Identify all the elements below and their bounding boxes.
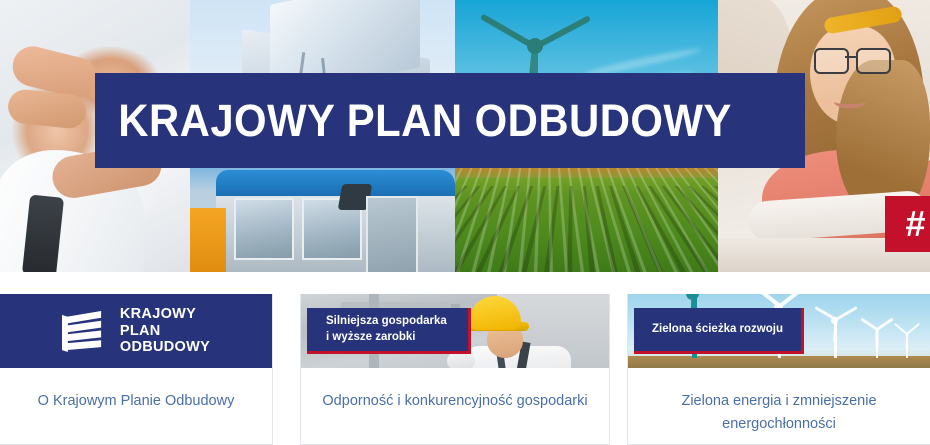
turbine-4-blade-3	[876, 330, 879, 348]
card-economy[interactable]: Silniejsza gospodarka i wyższe zarobki O…	[300, 294, 610, 445]
hashtag-icon: #	[905, 206, 925, 242]
crop-field-photo	[455, 168, 718, 272]
hashtag-badge[interactable]: #	[885, 196, 930, 252]
tram-yellow-panel	[190, 208, 226, 272]
wind-farm-photo: Zielona ścieżka rozwoju	[628, 294, 930, 368]
badge-line-1: Silniejsza gospodarka	[326, 314, 447, 330]
turbine-hub	[527, 38, 543, 54]
card-row: KRAJOWY PLAN ODBUDOWY O Krajowym Planie …	[0, 294, 930, 445]
turbine-3-blade-1	[835, 306, 857, 321]
kpo-building-steps-icon	[62, 309, 107, 354]
hero-title-banner: KRAJOWY PLAN ODBUDOWY	[95, 73, 805, 168]
turbine-4-blade-1	[876, 318, 893, 331]
kpo-logo-text: KRAJOWY PLAN ODBUDOWY	[120, 306, 210, 356]
turbine-5-blade-1	[906, 323, 920, 335]
card-badge-economy-text: Silniejsza gospodarka i wyższe zarobki	[326, 314, 447, 345]
card-caption-wrap: Zielona energia i zmniejszenie energochł…	[628, 368, 930, 437]
worker-hardhat-photo: Silniejsza gospodarka i wyższe zarobki	[301, 294, 609, 368]
tram-window-1	[234, 198, 294, 260]
card-caption-wrap: Odporność i konkurencyjność gospodarki	[301, 368, 609, 413]
card-badge-green: Zielona ścieżka rozwoju	[634, 308, 804, 354]
card-badge-economy: Silniejsza gospodarka i wyższe zarobki	[307, 308, 471, 354]
logo-line-3: ODBUDOWY	[120, 339, 210, 356]
card-caption-about: O Krajowym Planie Odbudowy	[38, 390, 235, 413]
card-caption-green: Zielona energia i zmniejszenie energochł…	[646, 390, 912, 437]
lens-right	[856, 48, 891, 74]
card-caption-wrap: O Krajowym Planie Odbudowy	[0, 368, 272, 413]
lens-left	[814, 48, 849, 74]
card-caption-economy: Odporność i konkurencyjność gospodarki	[322, 390, 587, 413]
girl-eyeglasses-icon	[814, 48, 892, 70]
tram-roof	[216, 170, 455, 196]
page-root: KRAJOWY PLAN ODBUDOWY # KRAJOWY	[0, 0, 930, 445]
tram-door	[366, 196, 418, 272]
logo-line-2: PLAN	[120, 323, 210, 340]
badge-line-2: i wyższe zarobki	[326, 330, 447, 346]
card-about-kpo[interactable]: KRAJOWY PLAN ODBUDOWY O Krajowym Planie …	[0, 294, 273, 445]
worker-glove	[447, 352, 475, 368]
logo-line-1: KRAJOWY	[120, 306, 210, 323]
turbine-2-blade-1	[779, 294, 805, 308]
girl-smile	[834, 92, 866, 108]
hero-mosaic: KRAJOWY PLAN ODBUDOWY #	[0, 0, 930, 272]
tram-photo	[190, 168, 455, 272]
card-green[interactable]: Zielona ścieżka rozwoju Zielona energia …	[627, 294, 930, 445]
turbine-3-blade-2	[814, 306, 836, 321]
kpo-logo-block: KRAJOWY PLAN ODBUDOWY	[0, 294, 272, 368]
kpo-logo: KRAJOWY PLAN ODBUDOWY	[62, 306, 210, 356]
turbine-hub-main	[686, 294, 699, 300]
page-title: KRAJOWY PLAN ODBUDOWY	[95, 95, 732, 147]
field-crop-rows-dark	[455, 186, 718, 272]
turbine-5-blade-2	[894, 323, 908, 335]
turbine-2-blade-2	[755, 294, 781, 308]
glasses-bridge	[845, 56, 856, 58]
card-badge-green-text: Zielona ścieżka rozwoju	[652, 322, 783, 338]
